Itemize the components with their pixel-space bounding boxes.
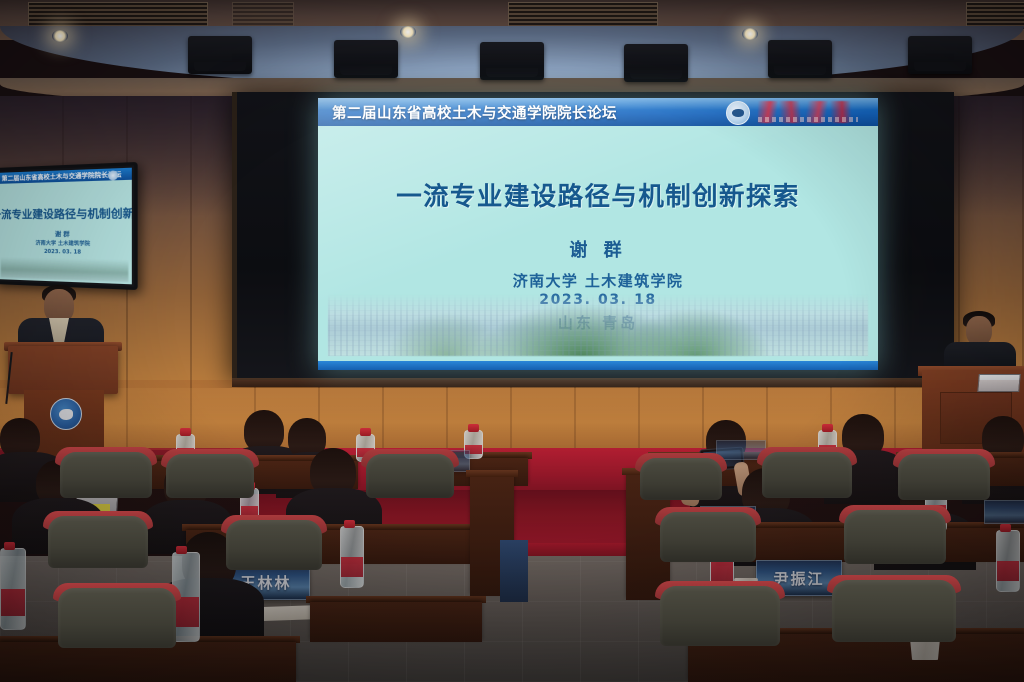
side-monitor-banner-title: 第二届山东省高校土木与交通学院院长论坛 xyxy=(2,169,122,183)
side-monitor-banner: 第二届山东省高校土木与交通学院院长论坛 xyxy=(0,168,132,184)
bottle-cap xyxy=(180,428,191,436)
laptop xyxy=(977,374,1021,392)
side-monitor-author: 谢 群 xyxy=(0,229,132,239)
paper-bag xyxy=(500,540,528,602)
downlight-icon xyxy=(52,30,68,42)
surround-trim xyxy=(232,92,237,384)
auditorium-seat[interactable] xyxy=(366,454,454,498)
auditorium-seat[interactable] xyxy=(660,586,780,646)
auditorium-seat[interactable] xyxy=(898,454,990,500)
auditorium-seat[interactable] xyxy=(832,580,956,642)
ceiling-speaker-box xyxy=(334,40,398,78)
bottle-cap xyxy=(360,428,371,436)
ceiling-speaker-box xyxy=(624,44,688,82)
bottle-label xyxy=(711,560,733,581)
auditorium-seat[interactable] xyxy=(166,454,254,498)
auditorium-seat[interactable] xyxy=(762,452,852,498)
side-monitor-date: 2023. 03. 18 xyxy=(0,248,132,257)
bottle-label xyxy=(341,557,363,577)
university-emblem-icon xyxy=(108,170,118,180)
podium: 山东科技大学 xyxy=(8,346,118,394)
bottle-cap xyxy=(468,424,479,432)
auditorium-seat[interactable] xyxy=(48,516,148,568)
slide-author: 谢 群 xyxy=(318,236,878,262)
slide-title: 一流专业建设路径与机制创新探索 xyxy=(318,176,878,213)
slide-affiliation: 济南大学 土木建筑学院 xyxy=(318,270,878,291)
podium-emblem-icon xyxy=(50,398,82,430)
bottle-label xyxy=(997,561,1019,581)
side-monitor-panorama xyxy=(1,257,129,282)
bottle-cap xyxy=(1000,524,1011,532)
audience-desk-top xyxy=(466,470,518,477)
downlight-icon xyxy=(742,28,758,40)
auditorium-seat[interactable] xyxy=(58,588,176,648)
projection-screen[interactable]: 第二届山东省高校土木与交通学院院长论坛 一流专业建设路径与机制创新探索 谢 群 … xyxy=(318,98,878,370)
surround-bottom-trim xyxy=(232,378,954,387)
ceiling-speaker-box xyxy=(188,36,252,74)
auditorium-seat[interactable] xyxy=(844,510,946,564)
bottle-cap xyxy=(176,546,187,554)
auditorium-seat[interactable] xyxy=(226,520,322,570)
bottle-cap xyxy=(4,542,15,550)
bottle-cap xyxy=(344,520,355,528)
side-monitor-title: 一流专业建设路径与机制创新探索 xyxy=(0,205,123,222)
ceiling-speaker-box xyxy=(480,42,544,80)
ceiling-speaker-box xyxy=(908,36,972,74)
panorama-texture xyxy=(328,294,868,356)
audience-desk xyxy=(0,642,296,682)
audience-desk xyxy=(310,602,482,642)
ceiling-speaker-box xyxy=(768,40,832,78)
conference-hall-photo: 第二届山东省高校土木与交通学院院长论坛 一流专业建设路径与机制创新探索 谢 群 … xyxy=(0,0,1024,682)
name-placard xyxy=(984,500,1024,524)
water-bottle xyxy=(340,526,364,588)
side-monitor-affiliation: 济南大学 土木建筑学院 xyxy=(0,239,132,248)
auditorium-seat[interactable] xyxy=(660,512,756,562)
water-bottle xyxy=(996,530,1020,592)
water-bottle xyxy=(0,548,26,630)
auditorium-seat[interactable] xyxy=(60,452,152,498)
bottle-cap xyxy=(822,424,833,432)
side-monitor-screen: 第二届山东省高校土木与交通学院院长论坛 一流专业建设路径与机制创新探索 谢 群 … xyxy=(0,168,132,285)
bottle-label xyxy=(173,597,199,627)
slide-footer-bar xyxy=(318,361,878,370)
downlight-icon xyxy=(400,26,416,38)
bottle-label xyxy=(1,589,25,616)
auditorium-seat[interactable] xyxy=(640,458,722,500)
side-monitor[interactable]: 第二届山东省高校土木与交通学院院长论坛 一流专业建设路径与机制创新探索 谢 群 … xyxy=(0,162,138,290)
